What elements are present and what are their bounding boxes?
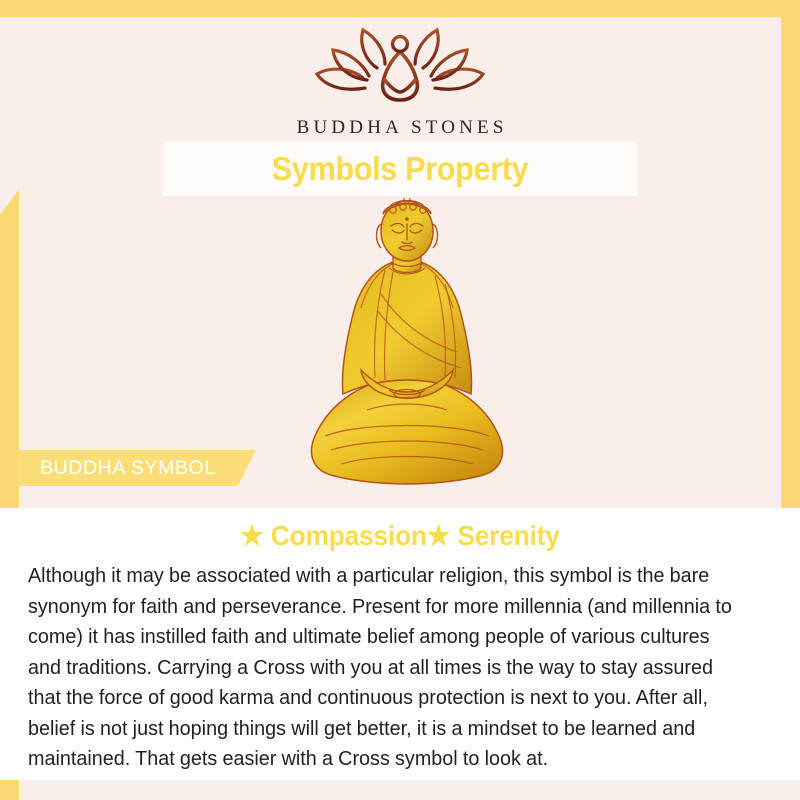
content-panel: ★ Compassion★ Serenity Although it may b… [0,508,800,780]
lotus-meditation-figure-icon [0,22,800,115]
section-body-text: Although it may be associated with a par… [0,552,772,775]
frame-top-band [0,0,800,17]
page-root: BUDDHA STONES Symbols Property [0,0,800,800]
title-banner: Symbols Property [163,142,637,196]
page-title: Symbols Property [272,150,529,188]
buddha-symbol-ribbon: BUDDHA SYMBOL [18,450,256,486]
ribbon-label: BUDDHA SYMBOL [40,457,216,480]
seated-golden-buddha-statue [285,198,530,493]
section-subheading: ★ Compassion★ Serenity [24,508,776,552]
brand-wordmark: BUDDHA STONES [0,117,800,139]
brand-header: BUDDHA STONES [0,22,800,139]
